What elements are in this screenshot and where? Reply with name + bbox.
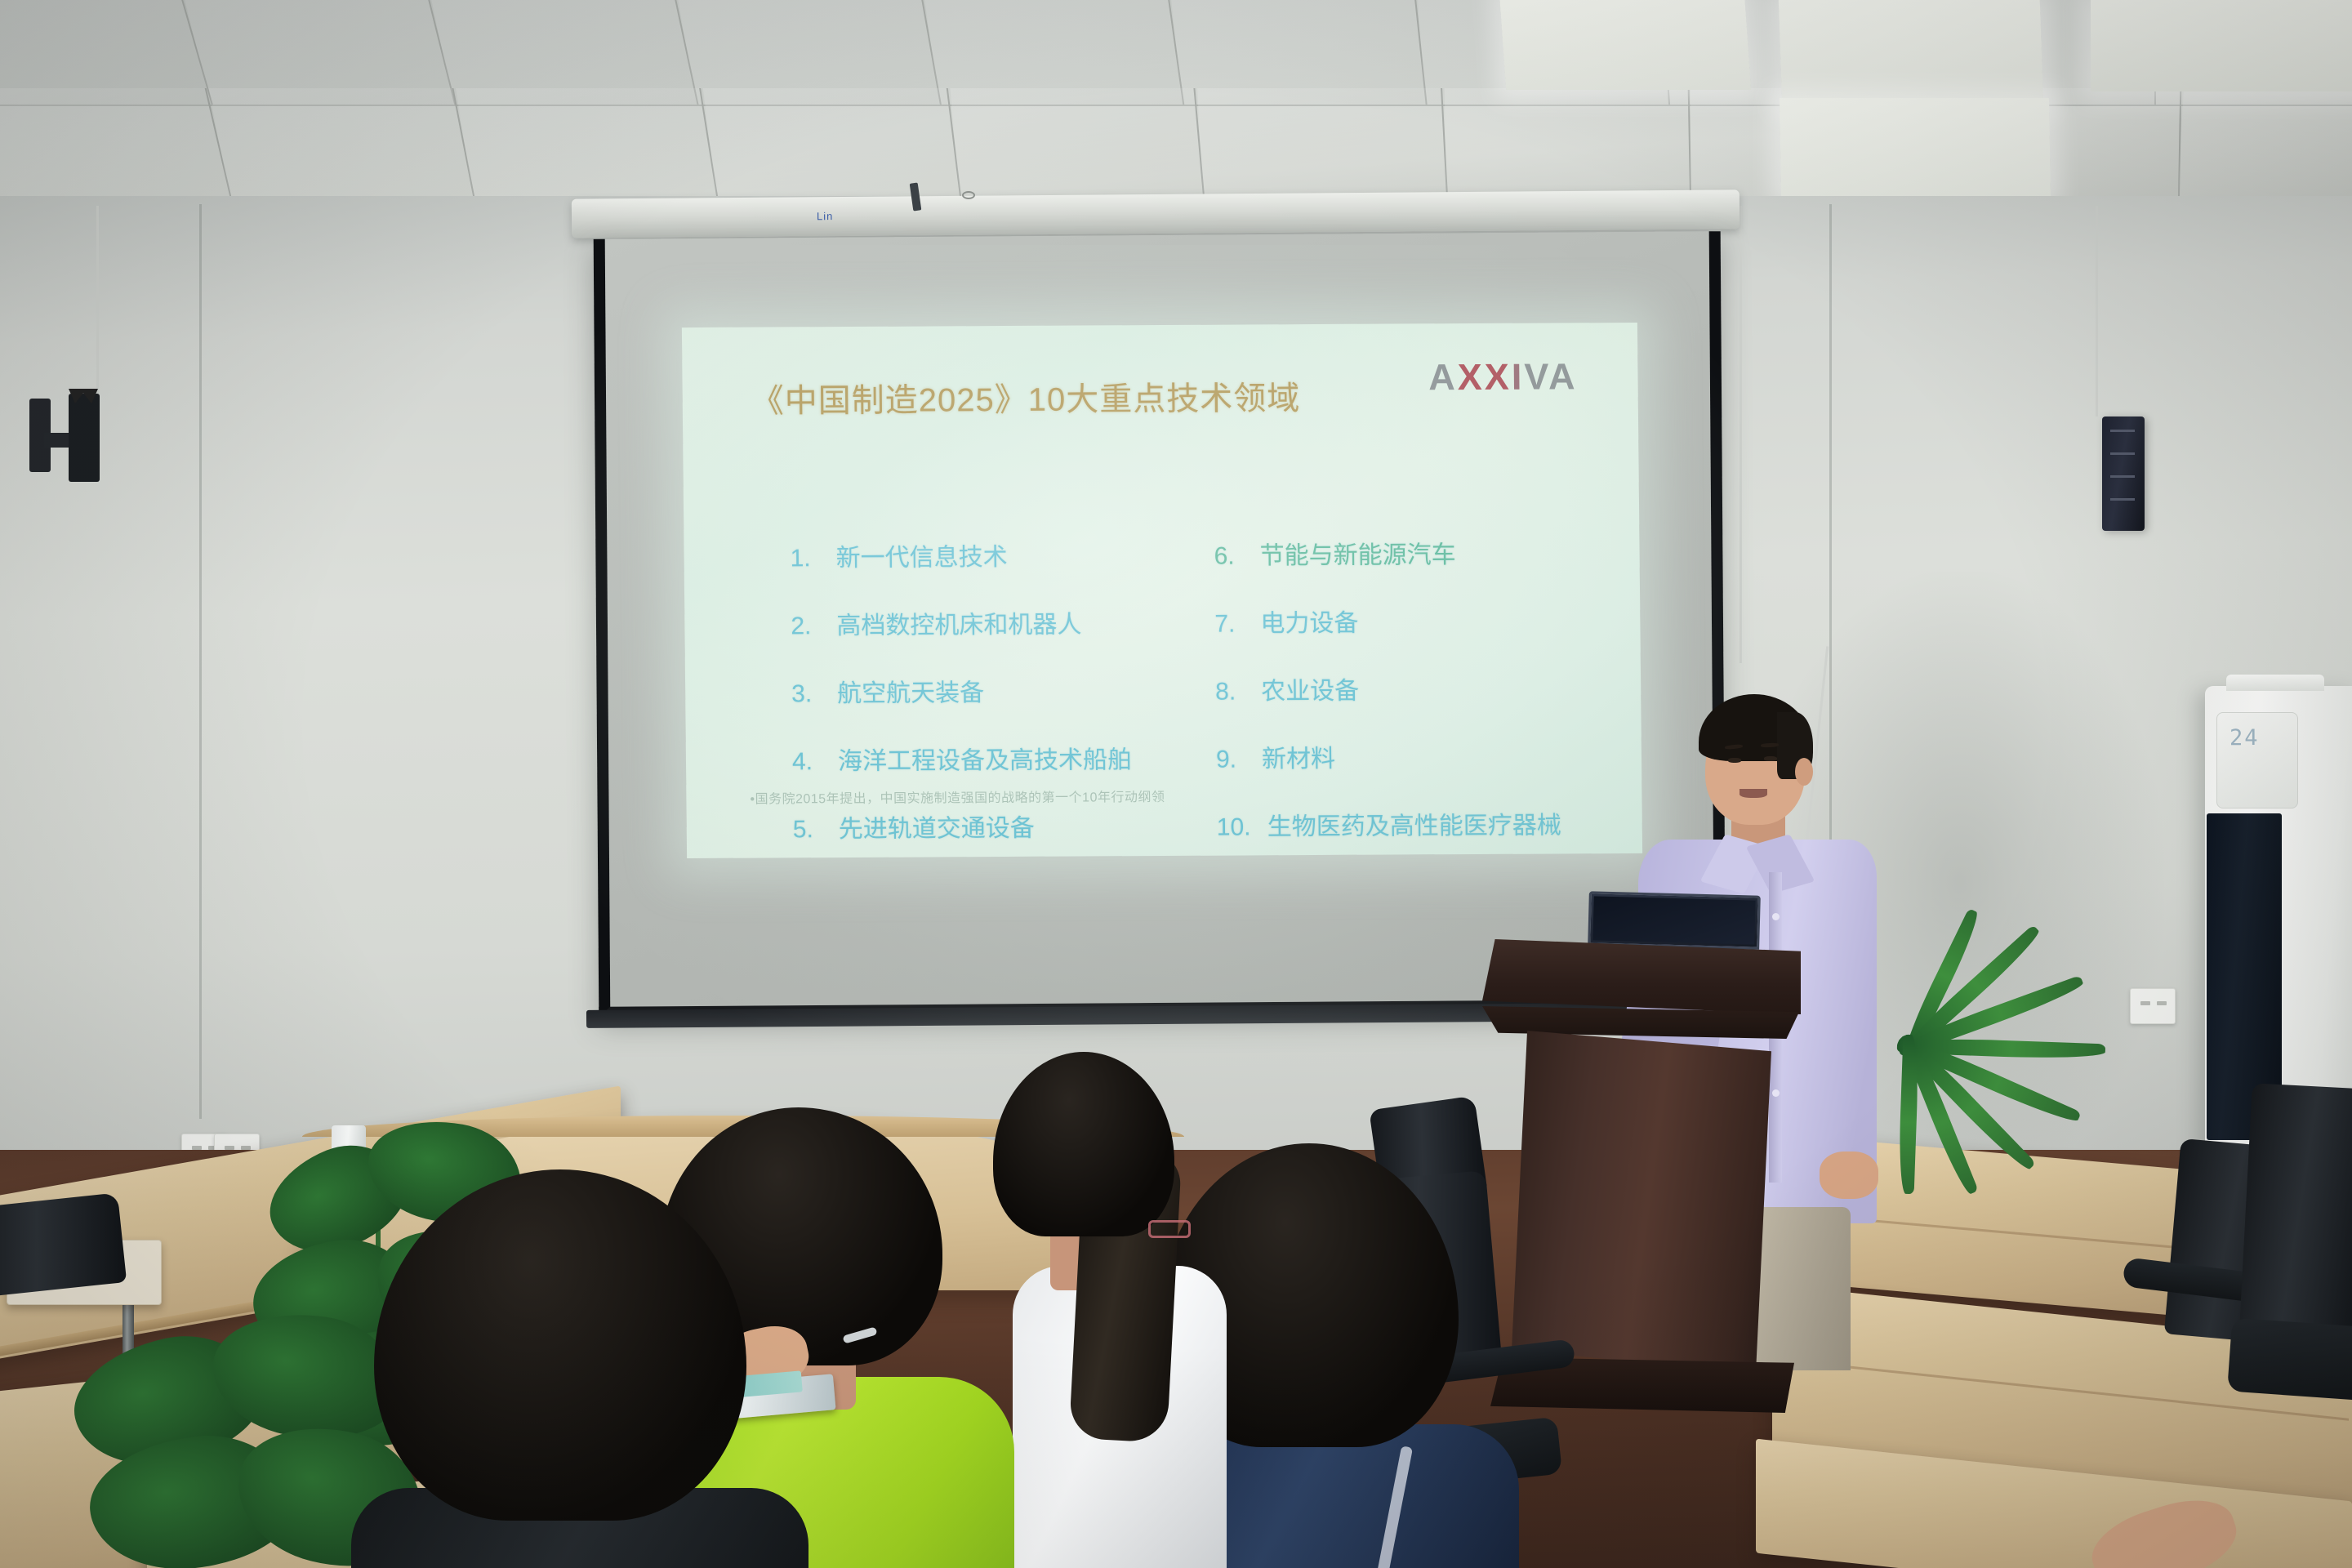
- logo-letter-a1: A: [1428, 356, 1458, 398]
- list-item-number: 2.: [791, 612, 836, 640]
- laptop-screen[interactable]: [1592, 896, 1755, 944]
- list-item: 1. 新一代信息技术: [790, 536, 1194, 574]
- list-item-number: 5.: [793, 816, 839, 844]
- list-item: 9. 新材料: [1216, 737, 1601, 774]
- slide-title: 《中国制造2025》10大重点技术领域: [751, 372, 1300, 422]
- air-conditioner-top: [2226, 675, 2324, 691]
- slide-two-column-list: 1. 新一代信息技术 2. 高档数控机床和机器人 3. 航空航天装备 4. 海洋…: [790, 533, 1601, 858]
- list-item-number: 1.: [790, 545, 835, 572]
- presenter-eye: [1764, 756, 1777, 761]
- ceiling: [0, 0, 2352, 206]
- list-item: 6. 节能与新能源汽车: [1214, 533, 1598, 571]
- ceiling-light-panel: [1499, 0, 1751, 90]
- presenter-eye: [1728, 758, 1741, 763]
- list-item-label: 航空航天装备: [837, 672, 984, 709]
- list-item-number: 8.: [1215, 678, 1261, 706]
- screen-ring: [962, 191, 975, 199]
- logo-letter-x1: X: [1458, 356, 1486, 398]
- eyeglasses: [1148, 1220, 1191, 1238]
- ceiling-light-panel: [1780, 98, 2051, 196]
- wall-speaker-right: [2102, 416, 2145, 531]
- presentation-slide: 《中国制造2025》10大重点技术领域 AXXIVA 1. 新一代信息技术 2.…: [682, 323, 1642, 858]
- list-item-number: 9.: [1216, 746, 1262, 773]
- list-item: 4. 海洋工程设备及高技术船舶: [792, 739, 1196, 777]
- ceiling-light-panel: [1779, 0, 2044, 106]
- presenter-ear: [1795, 758, 1813, 786]
- list-item-label: 农业设备: [1261, 670, 1359, 707]
- list-item-number: 3.: [791, 680, 837, 708]
- list-item: 7. 电力设备: [1214, 601, 1599, 639]
- list-item-label: 节能与新能源汽车: [1259, 534, 1455, 571]
- wall-outlet-right[interactable]: [2130, 988, 2176, 1024]
- list-item-label: 高档数控机床和机器人: [836, 604, 1081, 642]
- wall-mount-bracket-left: [29, 394, 136, 483]
- list-item-label: 新一代信息技术: [835, 537, 1007, 573]
- list-item-label: 电力设备: [1260, 603, 1358, 639]
- logo-letter-i: I: [1512, 356, 1525, 398]
- laptop[interactable]: [1588, 891, 1761, 949]
- logo-letter-x2: X: [1485, 356, 1512, 398]
- axxiva-logo: AXXIVA: [1428, 355, 1578, 399]
- office-chair-far-left[interactable]: [0, 1200, 180, 1445]
- list-item: 5. 先进轨道交通设备: [793, 807, 1197, 845]
- list-item: 10. 生物医药及高性能医疗器械: [1217, 804, 1601, 842]
- list-item: 3. 航空航天装备: [791, 671, 1196, 710]
- presenter-mouth: [1739, 789, 1767, 798]
- list-item-label: 先进轨道交通设备: [839, 808, 1035, 844]
- list-item-label: 生物医药及高性能医疗器械: [1267, 804, 1561, 842]
- podium-top-surface: [1482, 939, 1801, 1014]
- ceiling-light-panel: [2091, 0, 2352, 91]
- air-conditioner-temperature: 24: [2229, 725, 2260, 751]
- slide-footnote: •国务院2015年提出，中国实施制造强国的战略的第一个10年行动纲领: [750, 786, 1165, 808]
- list-item-label: 新材料: [1262, 738, 1335, 774]
- audience-front-left: [351, 1169, 792, 1568]
- wall-seam: [199, 204, 202, 1119]
- slide-column-left: 1. 新一代信息技术 2. 高档数控机床和机器人 3. 航空航天装备 4. 海洋…: [790, 536, 1197, 858]
- shirt-button: [1772, 913, 1780, 920]
- hanging-wire: [2096, 206, 2098, 416]
- projector-cable: [1739, 206, 1742, 663]
- presenter-right-hand: [1820, 1151, 1878, 1199]
- list-item: 8. 农业设备: [1215, 669, 1600, 706]
- screen-brand-label: Lin: [817, 210, 833, 222]
- office-chair-right-2[interactable]: [2229, 1086, 2352, 1462]
- list-item-label: 海洋工程设备及高技术船舶: [838, 739, 1132, 777]
- list-item-number: 7.: [1214, 610, 1260, 638]
- hanging-wire: [96, 206, 99, 400]
- meeting-room-scene: Lin 《中国制造2025》10大重点技术领域 AXXIVA 1. 新一代信息技…: [0, 0, 2352, 1568]
- logo-letter-v: V: [1524, 356, 1548, 398]
- logo-letter-a2: A: [1548, 355, 1578, 397]
- list-item-number: 10.: [1217, 813, 1267, 841]
- slide-column-right: 6. 节能与新能源汽车 7. 电力设备 8. 农业设备 9. 新材料 10.: [1194, 533, 1601, 858]
- list-item: 2. 高档数控机床和机器人: [791, 604, 1195, 642]
- list-item-number: 4.: [792, 748, 838, 776]
- list-item-number: 6.: [1214, 542, 1259, 570]
